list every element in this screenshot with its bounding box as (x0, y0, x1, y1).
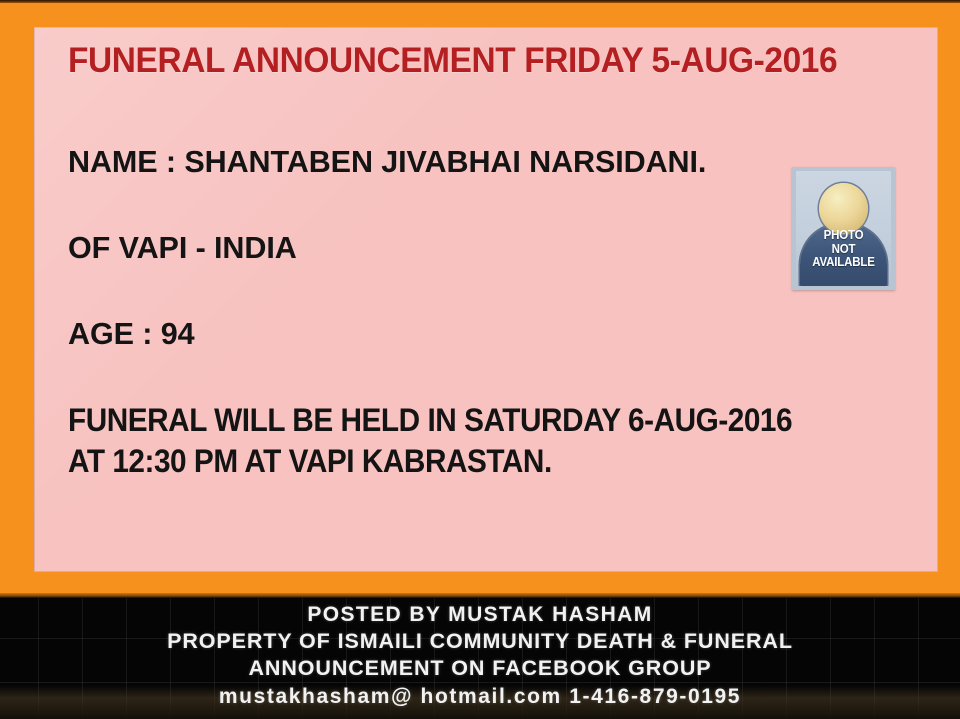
photo-placeholder-caption: PHOTO NOT AVAILABLE (800, 229, 887, 270)
funeral-details-line-2: AT 12:30 PM AT VAPI KABRASTAN. (68, 443, 552, 480)
deceased-age-line: AGE : 94 (68, 316, 194, 352)
photo-not-available-placeholder: PHOTO NOT AVAILABLE (792, 167, 895, 290)
footer-contact-line: mustakhasham@ hotmail.com 1-416-879-0195 (0, 682, 960, 712)
footer-group-line: ANNOUNCEMENT ON FACEBOOK GROUP (0, 655, 960, 682)
photo-caption-line-2: NOT (832, 242, 856, 256)
person-silhouette-head-icon (819, 183, 868, 235)
footer-property-line: PROPERTY OF ISMAILI COMMUNITY DEATH & FU… (0, 628, 960, 655)
page-title: FUNERAL ANNOUNCEMENT FRIDAY 5-AUG-2016 (68, 41, 837, 81)
footer-text-block: POSTED BY MUSTAK HASHAM PROPERTY OF ISMA… (0, 602, 960, 712)
funeral-details-line-1: FUNERAL WILL BE HELD IN SATURDAY 6-AUG-2… (68, 402, 792, 439)
photo-caption-line-1: PHOTO (824, 228, 864, 242)
deceased-name-line: NAME : SHANTABEN JIVABHAI NARSIDANI. (68, 144, 706, 180)
funeral-announcement-poster: FUNERAL ANNOUNCEMENT FRIDAY 5-AUG-2016 N… (0, 0, 960, 719)
photo-caption-line-3: AVAILABLE (812, 255, 874, 269)
announcement-card: FUNERAL ANNOUNCEMENT FRIDAY 5-AUG-2016 N… (34, 27, 938, 572)
deceased-place-line: OF VAPI - INDIA (68, 230, 297, 266)
footer-posted-by: POSTED BY MUSTAK HASHAM (0, 602, 960, 628)
photo-placeholder-inner: PHOTO NOT AVAILABLE (796, 171, 891, 286)
card-sheen-overlay (34, 27, 938, 572)
footer-credit-banner: POSTED BY MUSTAK HASHAM PROPERTY OF ISMA… (0, 598, 960, 719)
